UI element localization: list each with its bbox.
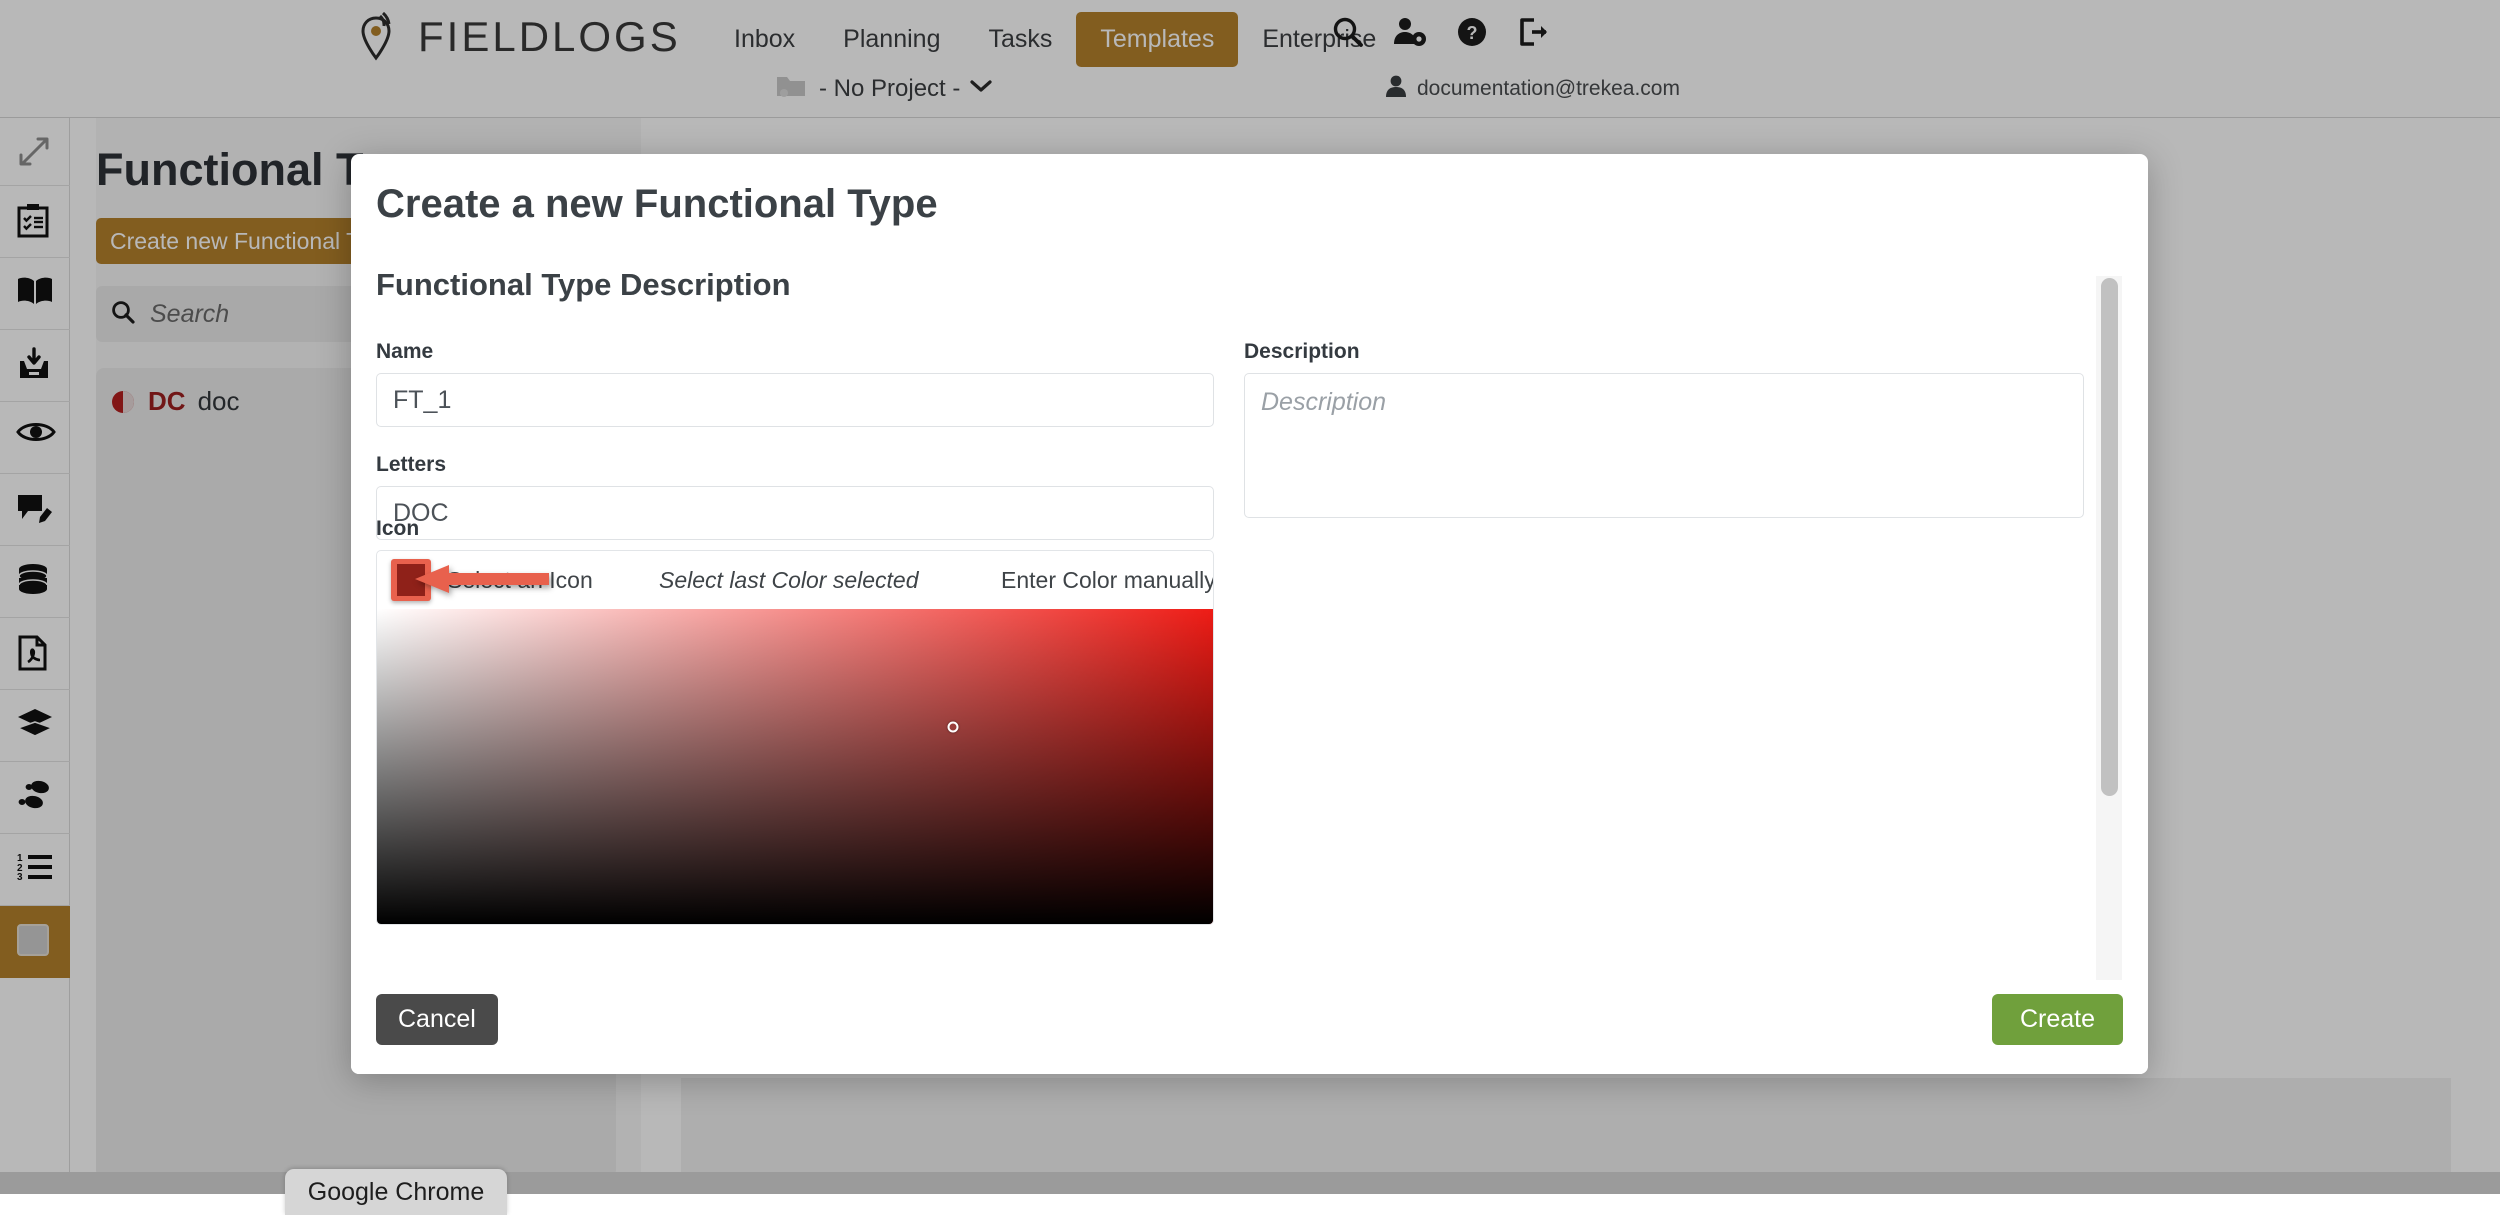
description-textarea[interactable] (1244, 373, 2084, 518)
dialog-title: Create a new Functional Type (376, 182, 938, 227)
icon-color-panel: Select an Icon Select last Color selecte… (376, 550, 1214, 925)
color-swatch[interactable] (391, 559, 431, 601)
create-button[interactable]: Create (1992, 994, 2123, 1045)
color-gradient-picker[interactable] (377, 609, 1213, 924)
icon-label: Icon (376, 517, 1214, 541)
name-label: Name (376, 340, 1214, 364)
select-last-color-button[interactable]: Select last Color selected (659, 567, 919, 594)
color-swatch-fill (397, 564, 425, 596)
cancel-button[interactable]: Cancel (376, 994, 498, 1045)
dialog-footer: Cancel Create (351, 980, 2148, 1074)
name-input[interactable] (376, 373, 1214, 427)
select-an-icon-button[interactable]: Select an Icon (447, 567, 593, 594)
enter-color-manually-button[interactable]: Enter Color manually (1001, 567, 1214, 594)
icon-color-toolbar: Select an Icon Select last Color selecte… (377, 551, 1213, 609)
dialog-scrollbar-thumb[interactable] (2101, 278, 2118, 796)
dialog-body: Name Letters Description Icon Select an … (351, 324, 2148, 980)
dialog-right-column: Description (1244, 340, 2084, 523)
letters-label: Letters (376, 453, 1214, 477)
taskbar-tooltip: Google Chrome (285, 1169, 507, 1215)
dialog-section-title: Functional Type Description (376, 267, 791, 303)
dialog-left-column: Name Letters (376, 340, 1214, 540)
icon-section: Icon Select an Icon Select last Color se… (376, 517, 1214, 925)
description-label: Description (1244, 340, 2084, 364)
create-functional-type-dialog: Create a new Functional Type Functional … (351, 154, 2148, 1074)
color-picker-cursor[interactable] (948, 722, 959, 733)
